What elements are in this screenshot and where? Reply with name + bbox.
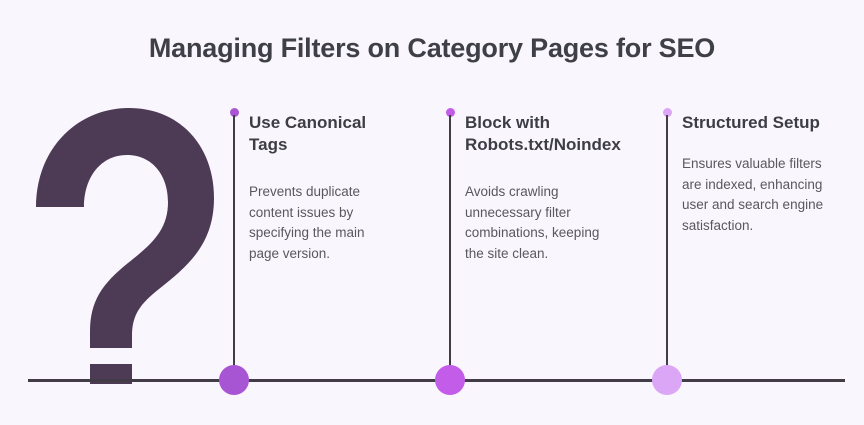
column-body-text: Prevents duplicate content issues by spe… <box>249 182 387 264</box>
baseline-circle-2 <box>435 365 465 395</box>
question-mark-icon <box>28 104 218 384</box>
page-title: Managing Filters on Category Pages for S… <box>0 33 864 64</box>
column-connector-line <box>233 115 235 377</box>
question-mark-graphic <box>28 104 218 384</box>
baseline-circle-3 <box>652 365 682 395</box>
infographic-canvas: Managing Filters on Category Pages for S… <box>0 0 864 425</box>
column-heading: Block with Robots.txt/Noindex <box>465 112 615 157</box>
column-body-text: Avoids crawling unnecessary filter combi… <box>465 182 615 264</box>
column-body-text: Ensures valuable filters are indexed, en… <box>682 154 840 236</box>
column-heading: Structured Setup <box>682 112 840 134</box>
column-connector-line <box>666 115 668 377</box>
baseline-circle-1 <box>219 365 249 395</box>
column-connector-line <box>449 115 451 377</box>
column-heading: Use Canonical Tags <box>249 112 387 157</box>
